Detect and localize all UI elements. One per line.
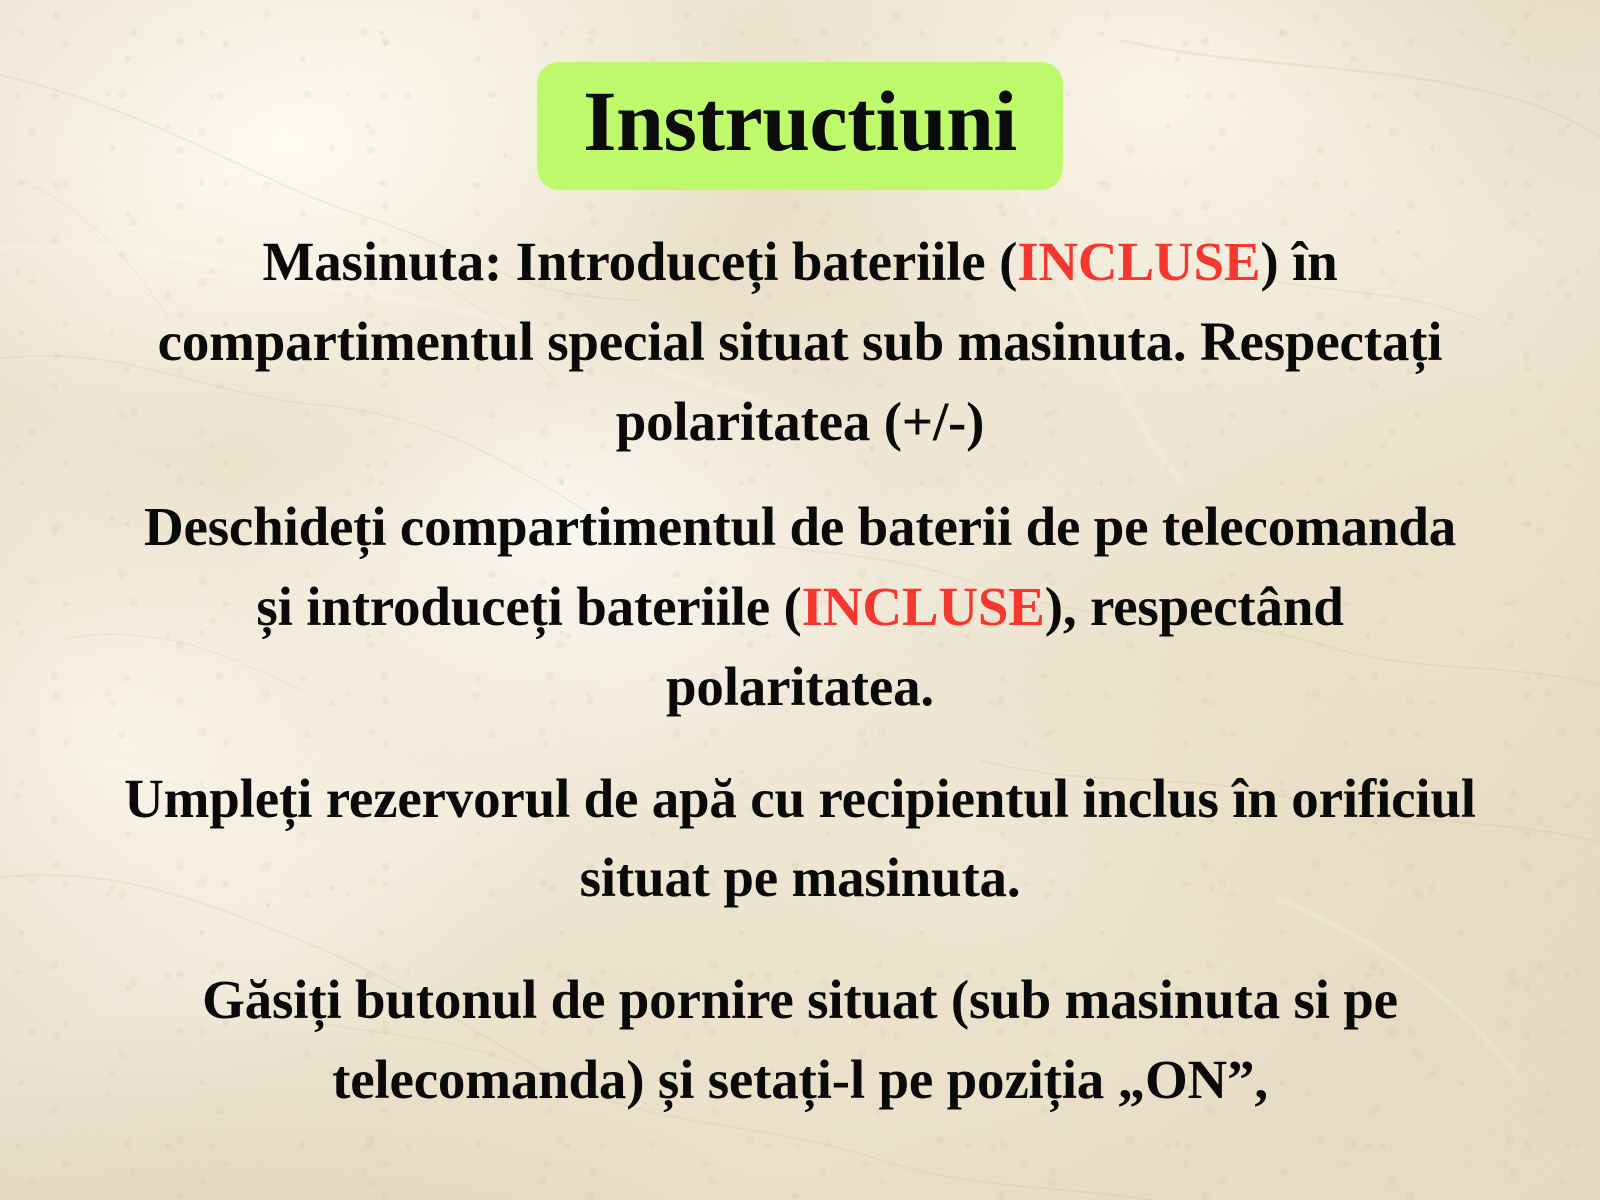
paragraph-1-line-3: polaritatea (+/-) bbox=[0, 382, 1600, 462]
text-segment: ), respectând bbox=[1045, 576, 1344, 637]
title-badge: Instructiuni bbox=[537, 62, 1063, 190]
paragraph-1-line-1: Masinuta: Introduceți bateriile (INCLUSE… bbox=[0, 222, 1600, 302]
instructions-list: Masinuta: Introduceți bateriile (INCLUSE… bbox=[0, 222, 1600, 1120]
paragraph-1-line-2: compartimentul special situat sub masinu… bbox=[0, 302, 1600, 382]
text-segment: și introduceți bateriile ( bbox=[256, 576, 801, 637]
instruction-paragraph-2: Deschideți compartimentul de baterii de … bbox=[0, 487, 1600, 726]
highlight-included: INCLUSE bbox=[1017, 231, 1260, 292]
paragraph-2-line-1: Deschideți compartimentul de baterii de … bbox=[0, 487, 1600, 567]
highlight-included: INCLUSE bbox=[802, 576, 1045, 637]
instruction-paragraph-4: Găsiți butonul de pornire situat (sub ma… bbox=[0, 960, 1600, 1120]
paragraph-4-line-2: telecomanda) și setați-l pe poziția „ON”… bbox=[0, 1040, 1600, 1120]
paragraph-3-line-1: Umpleți rezervorul de apă cu recipientul… bbox=[0, 759, 1600, 839]
slide-title: Instructiuni bbox=[583, 73, 1017, 169]
text-segment: ) în bbox=[1260, 231, 1337, 292]
paragraph-3-line-2: situat pe masinuta. bbox=[0, 838, 1600, 918]
paragraph-4-line-1: Găsiți butonul de pornire situat (sub ma… bbox=[0, 960, 1600, 1040]
slide-canvas: Instructiuni Masinuta: Introduceți bater… bbox=[0, 0, 1600, 1200]
slide-content: Instructiuni Masinuta: Introduceți bater… bbox=[0, 0, 1600, 1200]
instruction-paragraph-3: Umpleți rezervorul de apă cu recipientul… bbox=[0, 759, 1600, 919]
title-container: Instructiuni bbox=[0, 62, 1600, 190]
paragraph-2-line-3: polaritatea. bbox=[0, 647, 1600, 727]
paragraph-2-line-2: și introduceți bateriile (INCLUSE), resp… bbox=[0, 567, 1600, 647]
text-segment: Masinuta: Introduceți bateriile ( bbox=[263, 231, 1018, 292]
instruction-paragraph-1: Masinuta: Introduceți bateriile (INCLUSE… bbox=[0, 222, 1600, 461]
